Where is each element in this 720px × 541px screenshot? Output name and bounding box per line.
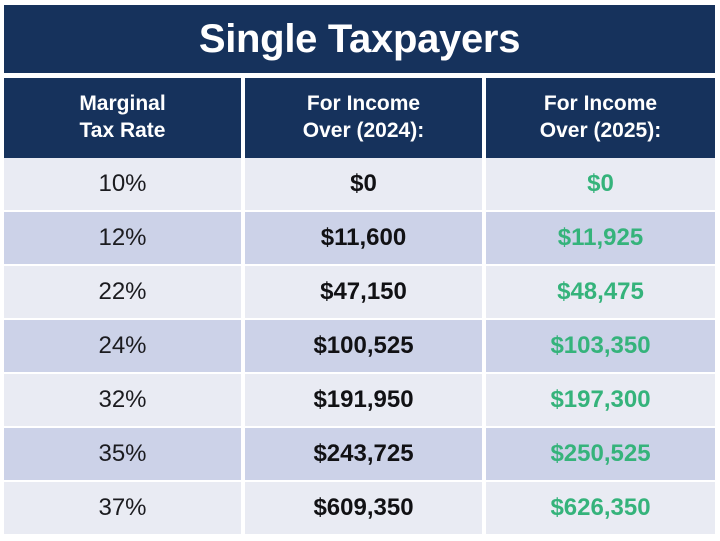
column-header-income-2024: For Income Over (2024): — [245, 78, 482, 158]
column-header-line1: For Income — [544, 92, 657, 115]
cell-income-2024: $47,150 — [245, 266, 482, 318]
cell-income-2025: $197,300 — [486, 374, 715, 426]
cell-tax-rate: 24% — [4, 320, 241, 372]
table-title-banner: Single Taxpayers — [4, 5, 715, 73]
table-row: 37% $609,350 $626,350 — [4, 482, 715, 534]
cell-income-2025: $626,350 — [486, 482, 715, 534]
cell-tax-rate: 37% — [4, 482, 241, 534]
cell-income-2024: $0 — [245, 158, 482, 210]
cell-income-2024: $11,600 — [245, 212, 482, 264]
table-row: 12% $11,600 $11,925 — [4, 212, 715, 264]
cell-income-2025: $0 — [486, 158, 715, 210]
table-row: 35% $243,725 $250,525 — [4, 428, 715, 480]
column-header-line1: For Income — [307, 92, 420, 115]
cell-income-2024: $609,350 — [245, 482, 482, 534]
cell-tax-rate: 35% — [4, 428, 241, 480]
cell-tax-rate: 32% — [4, 374, 241, 426]
tax-bracket-table: Single Taxpayers Marginal Tax Rate For I… — [4, 5, 715, 528]
table-body: 10% $0 $0 12% $11,600 $11,925 22% $47,15… — [4, 158, 715, 534]
cell-tax-rate: 10% — [4, 158, 241, 210]
column-header-marginal-tax-rate: Marginal Tax Rate — [4, 78, 241, 158]
column-header-line2: Tax Rate — [80, 119, 166, 142]
cell-tax-rate: 22% — [4, 266, 241, 318]
cell-income-2024: $243,725 — [245, 428, 482, 480]
cell-tax-rate: 12% — [4, 212, 241, 264]
cell-income-2025: $250,525 — [486, 428, 715, 480]
column-header-line2: Over (2024): — [303, 119, 424, 142]
table-row: 22% $47,150 $48,475 — [4, 266, 715, 318]
cell-income-2025: $103,350 — [486, 320, 715, 372]
page-title: Single Taxpayers — [199, 19, 520, 59]
cell-income-2025: $48,475 — [486, 266, 715, 318]
cell-income-2025: $11,925 — [486, 212, 715, 264]
cell-income-2024: $191,950 — [245, 374, 482, 426]
column-header-income-2025: For Income Over (2025): — [486, 78, 715, 158]
table-header-row: Marginal Tax Rate For Income Over (2024)… — [4, 78, 715, 158]
column-header-line1: Marginal — [79, 92, 165, 115]
table-row: 10% $0 $0 — [4, 158, 715, 210]
cell-income-2024: $100,525 — [245, 320, 482, 372]
table-row: 24% $100,525 $103,350 — [4, 320, 715, 372]
column-header-line2: Over (2025): — [540, 119, 661, 142]
table-row: 32% $191,950 $197,300 — [4, 374, 715, 426]
